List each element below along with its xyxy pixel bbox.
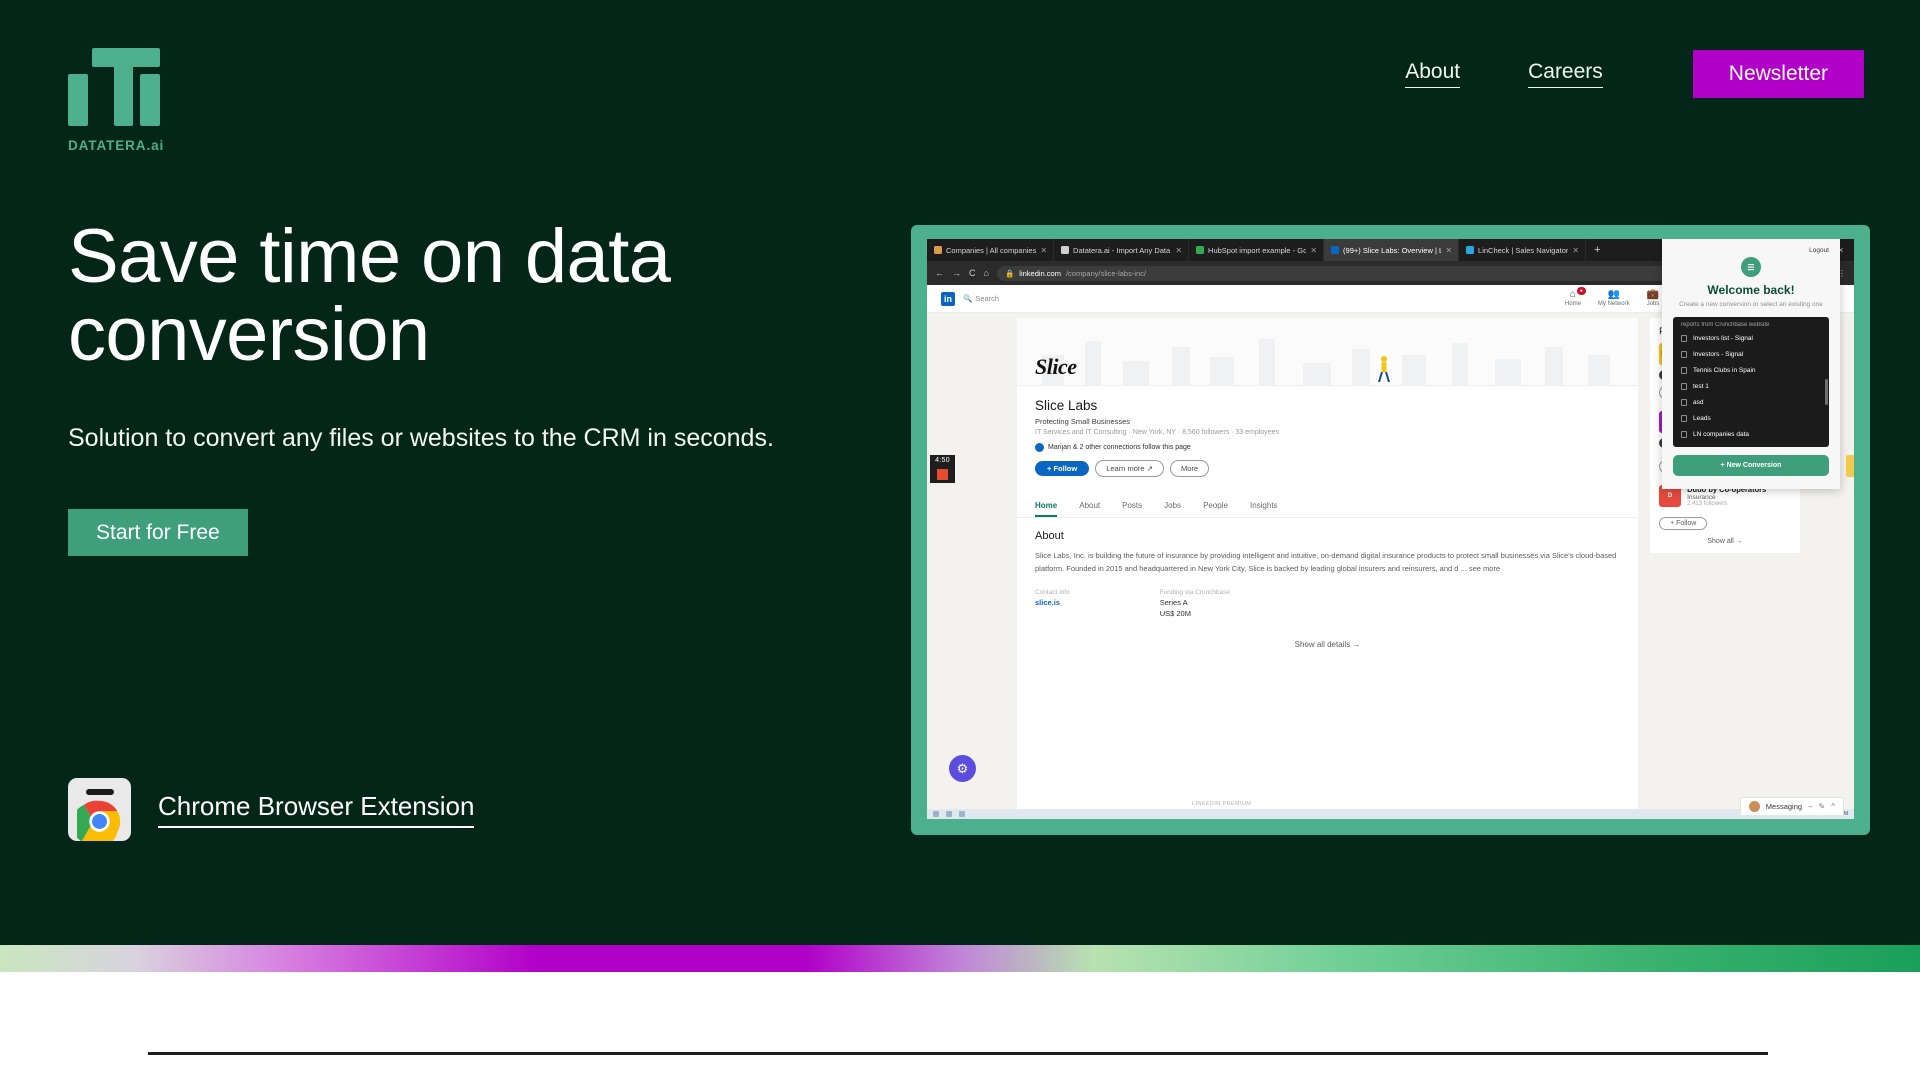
main-nav: About Careers Newsletter bbox=[1405, 50, 1864, 98]
messaging-widget[interactable]: Messaging – ✎ ^ bbox=[1740, 797, 1844, 815]
chevron-up-icon[interactable]: ^ bbox=[1831, 802, 1835, 811]
list-item-label: Investors list - Signal bbox=[1693, 335, 1753, 342]
os-taskbar: 1:11 PM bbox=[927, 809, 1854, 819]
company-about-section: About Slice Labs, Inc. is building the f… bbox=[1017, 518, 1638, 575]
list-top-partial-label: reports from Crunchbase website bbox=[1673, 321, 1829, 331]
list-item-label: Leads bbox=[1693, 415, 1711, 422]
premium-note: LINKEDIN PREMIUM bbox=[1192, 801, 1251, 807]
arrow-left-icon[interactable]: ← bbox=[935, 268, 944, 278]
new-conversion-button[interactable]: + New Conversion bbox=[1673, 455, 1829, 476]
browser-window: Companies | All companies ✕ Datatera.ai … bbox=[927, 239, 1854, 819]
company-action-buttons: + Follow Learn more ↗ More bbox=[1035, 460, 1620, 477]
brand-wordmark: DATATERA.ai bbox=[68, 138, 164, 153]
page-title: Save time on data conversion bbox=[68, 218, 808, 373]
list-item[interactable]: asd bbox=[1673, 395, 1829, 411]
compose-icon[interactable]: ✎ bbox=[1819, 802, 1826, 811]
rail-show-all-link[interactable]: Show all → bbox=[1659, 538, 1791, 545]
tab-label: Companies | All companies bbox=[946, 246, 1036, 255]
browser-tab-active[interactable]: (99+) Slice Labs: Overview | Lin ✕ bbox=[1324, 239, 1459, 261]
reload-icon[interactable]: C bbox=[969, 268, 976, 278]
list-item-label: Investors - Signal bbox=[1693, 351, 1743, 358]
follow-button[interactable]: + Follow bbox=[1035, 461, 1089, 476]
contact-info-label: Contact info bbox=[1035, 589, 1070, 596]
tab-label: LinCheck | Sales Navigator bbox=[1478, 246, 1568, 255]
search-icon: 🔍 bbox=[963, 294, 972, 303]
url-domain: linkedin.com bbox=[1019, 269, 1061, 278]
taskbar-icon[interactable] bbox=[946, 811, 952, 817]
hero-subtitle: Solution to convert any files or website… bbox=[68, 421, 778, 457]
company-tab-jobs[interactable]: Jobs bbox=[1164, 501, 1181, 517]
warning-icon[interactable]: ▲ bbox=[1846, 455, 1854, 477]
document-icon bbox=[1681, 431, 1687, 438]
linkedin-search-input[interactable]: 🔍 Search bbox=[963, 294, 999, 303]
product-screenshot-frame: Companies | All companies ✕ Datatera.ai … bbox=[911, 225, 1870, 835]
scrollbar-thumb[interactable] bbox=[1825, 379, 1828, 405]
document-icon bbox=[1681, 335, 1687, 342]
company-tab-about[interactable]: About bbox=[1079, 501, 1100, 517]
company-tagline: Protecting Small Businesses bbox=[1035, 417, 1620, 426]
linkedin-logo-icon[interactable]: in bbox=[941, 292, 955, 306]
notification-badge: ● bbox=[1577, 287, 1586, 295]
about-heading: About bbox=[1035, 530, 1620, 542]
more-button[interactable]: More bbox=[1170, 460, 1209, 477]
network-icon: 👥 bbox=[1608, 290, 1620, 300]
company-banner: Slice bbox=[1017, 318, 1638, 386]
walking-person-illustration bbox=[1377, 355, 1391, 383]
start-for-free-button[interactable]: Start for Free bbox=[68, 509, 248, 556]
messaging-label: Messaging bbox=[1766, 802, 1802, 811]
popup-title: Welcome back! bbox=[1673, 283, 1829, 297]
nav-label: My Network bbox=[1598, 301, 1630, 307]
browser-tab[interactable]: HubSpot import example - Goo ✕ bbox=[1189, 239, 1324, 261]
company-detail-columns: Contact info slice.is Funding via Crunch… bbox=[1017, 589, 1638, 618]
browser-tab[interactable]: Companies | All companies ✕ bbox=[927, 239, 1054, 261]
site-header: DATATERA.ai About Careers Newsletter bbox=[0, 0, 1920, 150]
list-item-label: test 1 bbox=[1693, 383, 1709, 390]
document-icon bbox=[1681, 399, 1687, 406]
company-info: Slice Labs Protecting Small Businesses I… bbox=[1017, 386, 1638, 485]
list-item-label: LN companies data bbox=[1693, 431, 1749, 438]
list-item[interactable]: LN companies data bbox=[1673, 427, 1829, 443]
tab-close-icon[interactable]: ✕ bbox=[1040, 246, 1047, 255]
list-item[interactable]: Leads bbox=[1673, 411, 1829, 427]
newsletter-button[interactable]: Newsletter bbox=[1693, 50, 1864, 98]
company-tab-insights[interactable]: Insights bbox=[1250, 501, 1278, 517]
company-connections: Marijan & 2 other connections follow thi… bbox=[1035, 443, 1620, 452]
avatar bbox=[1749, 801, 1760, 812]
brand-logo[interactable]: DATATERA.ai bbox=[68, 48, 164, 153]
tab-close-icon[interactable]: ✕ bbox=[1572, 246, 1579, 255]
datatera-monogram-icon bbox=[68, 48, 160, 126]
footer-section bbox=[0, 972, 1920, 1080]
funding-label: Funding via Crunchbase bbox=[1160, 589, 1230, 596]
tab-label: HubSpot import example - Goo bbox=[1208, 246, 1306, 255]
document-icon bbox=[1681, 383, 1687, 390]
gradient-divider bbox=[0, 945, 1920, 972]
browser-tab[interactable]: Datatera.ai - Import Any Data W ✕ bbox=[1054, 239, 1189, 261]
stop-square-icon[interactable] bbox=[930, 466, 955, 483]
document-icon bbox=[1681, 351, 1687, 358]
company-name: Slice Labs bbox=[1035, 398, 1620, 413]
company-tab-home[interactable]: Home bbox=[1035, 501, 1057, 517]
address-bar[interactable]: 🔒 linkedin.com /company/slice-labs-inc/ bbox=[997, 266, 1745, 281]
hero-section: DATATERA.ai About Careers Newsletter Sav… bbox=[0, 0, 1920, 945]
tab-label: (99+) Slice Labs: Overview | Lin bbox=[1343, 246, 1441, 255]
arrow-right-icon[interactable]: → bbox=[952, 268, 961, 278]
recorder-timer: 4:50 bbox=[930, 455, 955, 466]
connections-text: Marijan & 2 other connections follow thi… bbox=[1048, 444, 1191, 451]
taskbar-icon[interactable] bbox=[959, 811, 965, 817]
company-meta: IT Services and IT Consulting · New York… bbox=[1035, 429, 1620, 436]
url-path: /company/slice-labs-inc/ bbox=[1066, 269, 1146, 278]
chrome-logo-icon bbox=[68, 778, 131, 841]
search-placeholder: Search bbox=[975, 294, 999, 303]
datatera-extension-popup: Logout ☰ Welcome back! Create a new conv… bbox=[1662, 239, 1840, 489]
new-tab-button[interactable]: + bbox=[1586, 239, 1608, 261]
home-icon[interactable]: ⌂ bbox=[984, 268, 989, 278]
entity-industry: Insurance bbox=[1687, 494, 1766, 501]
chrome-extension-link[interactable]: Chrome Browser Extension bbox=[158, 791, 474, 828]
nav-link-about[interactable]: About bbox=[1405, 60, 1460, 88]
show-all-details-link[interactable]: Show all details → bbox=[1017, 640, 1638, 649]
gear-icon[interactable]: ⚙ bbox=[949, 755, 976, 782]
funding-block: Funding via Crunchbase Series A US$ 20M bbox=[1160, 589, 1230, 618]
learn-more-button[interactable]: Learn more ↗ bbox=[1095, 460, 1164, 477]
briefcase-icon: 💼 bbox=[1647, 290, 1659, 300]
tab-close-icon[interactable]: ✕ bbox=[1445, 246, 1452, 255]
list-item[interactable]: test 1 bbox=[1673, 379, 1829, 395]
document-icon bbox=[1681, 367, 1687, 374]
document-icon bbox=[1681, 415, 1687, 422]
minimize-icon[interactable]: – bbox=[1808, 802, 1812, 811]
datatera-avatar-icon: ☰ bbox=[1741, 257, 1761, 277]
contact-info-link[interactable]: slice.is bbox=[1035, 598, 1070, 607]
tab-close-icon[interactable]: ✕ bbox=[1310, 246, 1317, 255]
banner-illustration bbox=[1017, 318, 1638, 385]
home-icon: ⌂ bbox=[1570, 290, 1576, 300]
company-tabs: Home About Posts Jobs People Insights bbox=[1017, 491, 1638, 518]
funding-round: Series A bbox=[1160, 598, 1230, 607]
footer-divider bbox=[148, 1052, 1768, 1055]
nav-label: Jobs bbox=[1647, 301, 1660, 307]
company-profile-card: Slice Slice Labs Protecting Small Busine… bbox=[1017, 318, 1638, 819]
company-tab-posts[interactable]: Posts bbox=[1122, 501, 1142, 517]
screen-recorder-widget: 4:50 bbox=[930, 455, 955, 483]
chrome-extension-row: Chrome Browser Extension bbox=[68, 778, 474, 841]
conversion-list[interactable]: reports from Crunchbase website Investor… bbox=[1673, 317, 1829, 447]
tab-favicon-icon bbox=[934, 246, 942, 254]
browser-tab[interactable]: LinCheck | Sales Navigator ✕ bbox=[1459, 239, 1586, 261]
list-item[interactable]: Investors list - Signal bbox=[1673, 331, 1829, 347]
list-item[interactable]: Investors - Signal bbox=[1673, 347, 1829, 363]
tab-favicon-icon bbox=[1061, 246, 1069, 254]
tab-favicon-icon bbox=[1331, 246, 1339, 254]
tab-favicon-icon bbox=[1196, 246, 1204, 254]
list-item-label: asd bbox=[1693, 399, 1703, 406]
logout-link[interactable]: Logout bbox=[1673, 247, 1829, 254]
about-body: Slice Labs, Inc. is building the future … bbox=[1035, 549, 1620, 575]
connection-avatar-icon bbox=[1035, 443, 1044, 452]
linkedin-nav-home[interactable]: ⌂ ● Home bbox=[1565, 290, 1581, 308]
nav-label: Home bbox=[1565, 301, 1581, 307]
contact-info-block: Contact info slice.is bbox=[1035, 589, 1070, 618]
popup-subtitle: Create a new conversion or select an exi… bbox=[1673, 300, 1829, 310]
follow-button[interactable]: + Follow bbox=[1659, 517, 1707, 530]
company-wordmark: Slice bbox=[1035, 354, 1077, 380]
linkedin-nav-jobs[interactable]: 💼 Jobs bbox=[1647, 290, 1660, 308]
tab-favicon-icon bbox=[1466, 246, 1474, 254]
tab-close-icon[interactable]: ✕ bbox=[1175, 246, 1182, 255]
funding-amount: US$ 20M bbox=[1160, 609, 1230, 618]
tab-label: Datatera.ai - Import Any Data W bbox=[1073, 246, 1171, 255]
padlock-icon: 🔒 bbox=[1005, 269, 1014, 278]
taskbar-icon[interactable] bbox=[933, 811, 939, 817]
list-item-label: Tennis Clubs in Spain bbox=[1693, 367, 1756, 374]
list-item[interactable]: Tennis Clubs in Spain bbox=[1673, 363, 1829, 379]
entity-followers: 2,413 followers bbox=[1687, 501, 1766, 507]
linkedin-nav-network[interactable]: 👥 My Network bbox=[1598, 290, 1630, 308]
nav-link-careers[interactable]: Careers bbox=[1528, 60, 1603, 88]
company-tab-people[interactable]: People bbox=[1203, 501, 1228, 517]
hero-copy: Save time on data conversion Solution to… bbox=[68, 218, 868, 556]
